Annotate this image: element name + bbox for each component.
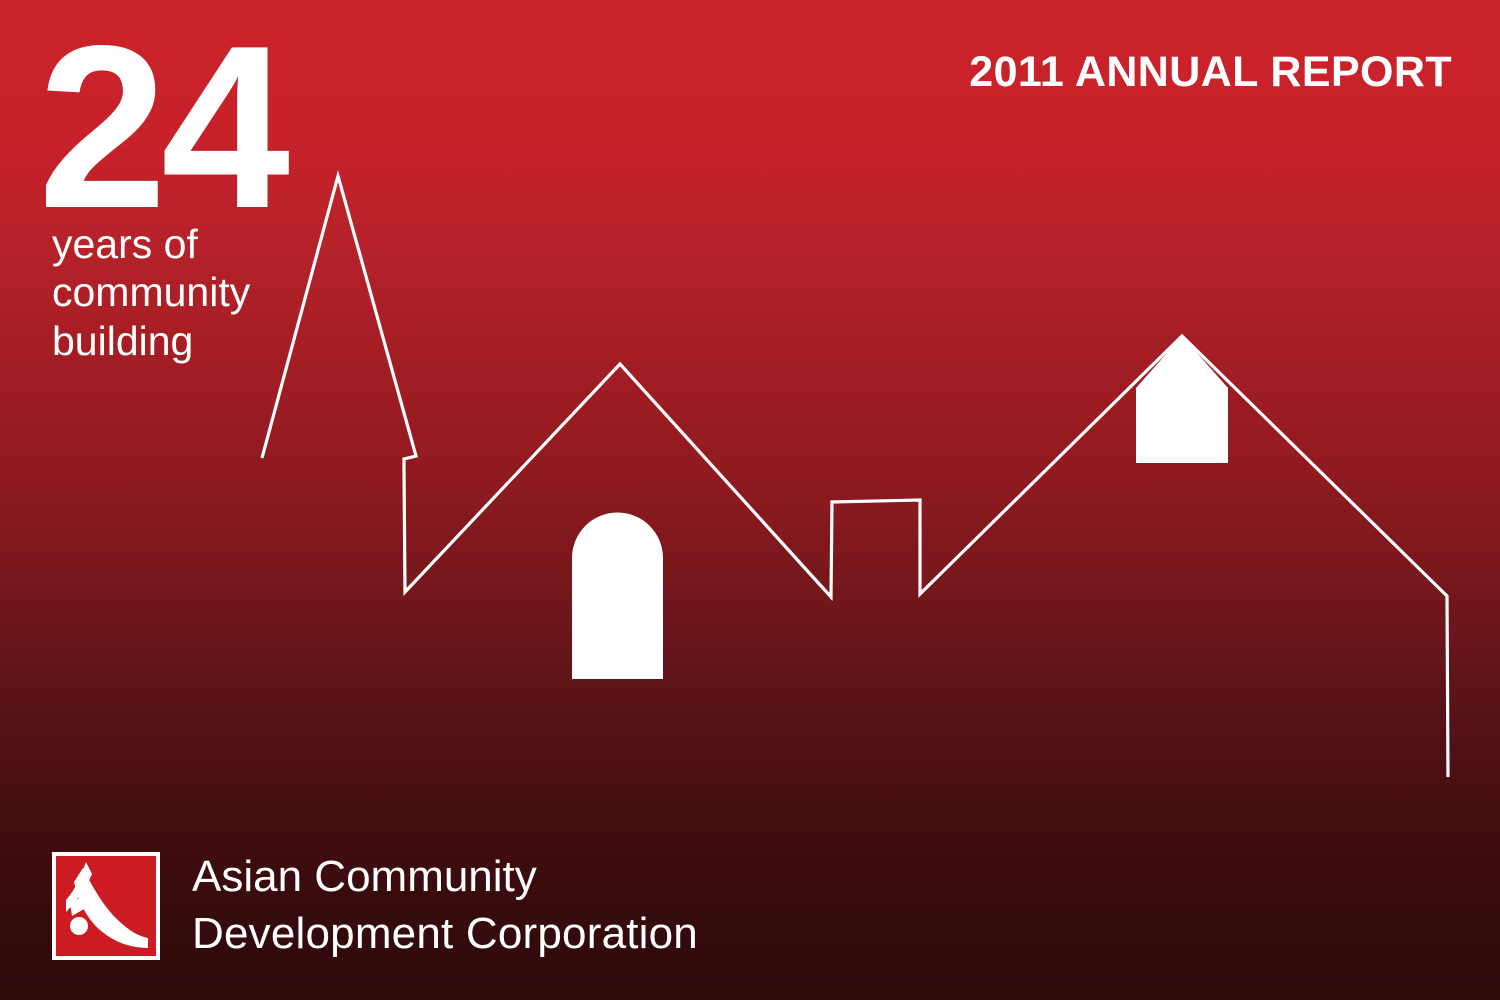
logo-dot xyxy=(70,917,88,935)
organization-name-line-2: Development Corporation xyxy=(192,906,698,962)
organization-name-line-1: Asian Community xyxy=(192,849,698,905)
anniversary-number: 24 xyxy=(38,28,284,228)
anniversary-subtitle-line-1: years of xyxy=(52,220,292,268)
acdc-brushstroke-logo-icon xyxy=(52,852,160,960)
arched-door-shape xyxy=(572,513,663,680)
organization-name: Asian Community Development Corporation xyxy=(192,849,698,962)
report-title: 2011 ANNUAL REPORT xyxy=(969,48,1452,97)
organization-logo-lockup: Asian Community Development Corporation xyxy=(52,849,698,962)
anniversary-subtitle-line-2: community xyxy=(52,268,292,316)
anniversary-subtitle: years of community building xyxy=(52,220,292,365)
filled-dormer-house-shape xyxy=(1136,336,1228,463)
skyline-outline-path xyxy=(262,176,1448,777)
annual-report-cover: 24 years of community building 2011 ANNU… xyxy=(0,0,1500,1000)
anniversary-subtitle-line-3: building xyxy=(52,317,292,365)
